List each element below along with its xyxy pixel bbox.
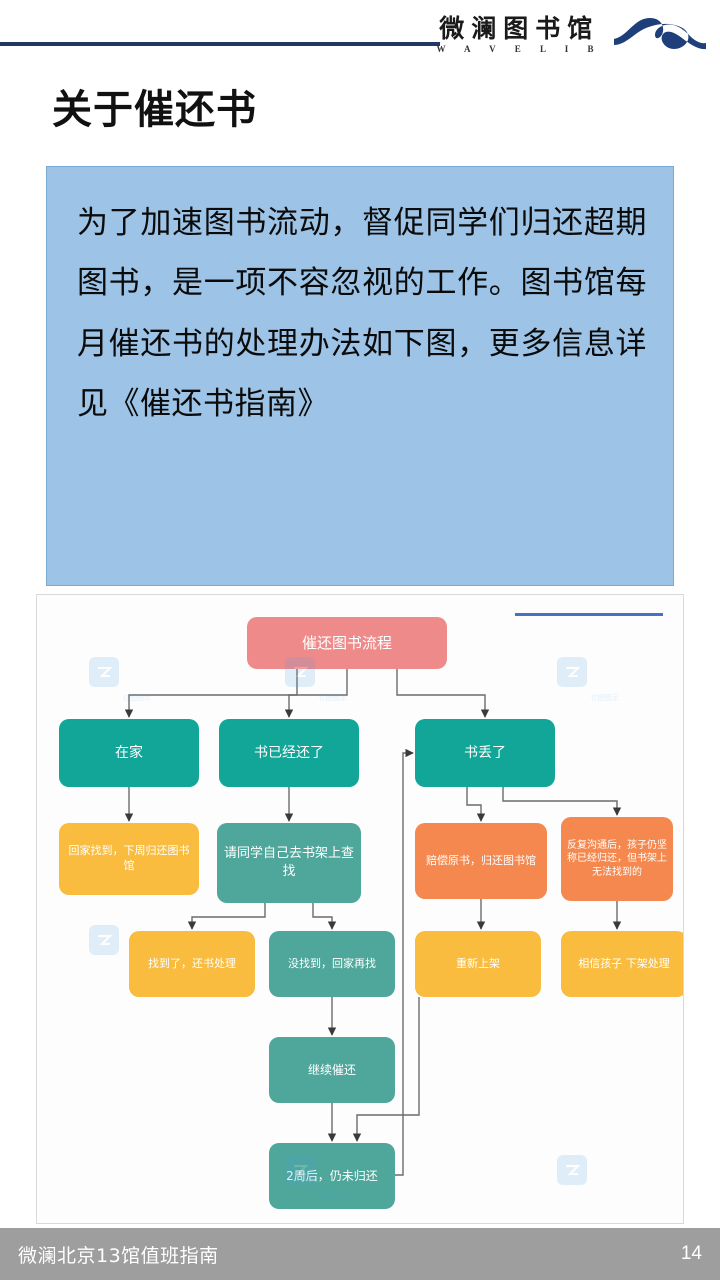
logo-text-block: 微澜图书馆 W A V E L I B <box>436 12 602 54</box>
slide-footer: 微澜北京13馆值班指南 14 <box>0 1228 720 1280</box>
flow-node-label: 2周后，仍未归还 <box>269 1143 395 1209</box>
flow-node-lost[interactable]: 书丢了 <box>415 719 555 787</box>
logo-english-name: W A V E L I B <box>436 44 602 54</box>
flow-node-reshelve[interactable]: 重新上架 <box>415 931 541 997</box>
wave-mark-icon <box>612 6 708 60</box>
flow-node-label: 书丢了 <box>415 719 555 787</box>
flow-node-self-search[interactable]: 请同学自己去书架上查找 <box>217 823 361 903</box>
flow-node-compensate[interactable]: 赔偿原书，归还图书馆 <box>415 823 547 899</box>
logo-chinese-name: 微澜图书馆 <box>439 16 599 41</box>
flowchart-card: 催还图书流程在家书已经还了书丢了回家找到，下周归还图书馆请同学自己去书架上查找赔… <box>36 594 684 1224</box>
flow-node-label: 重新上架 <box>415 931 541 997</box>
footer-title: 微澜北京13馆值班指南 <box>18 1241 219 1268</box>
slide: 微澜图书馆 W A V E L I B 关于催还书 为了加速图书流动，督促同学们… <box>0 0 720 1280</box>
brand-logo: 微澜图书馆 W A V E L I B <box>436 6 708 60</box>
flow-node-label: 回家找到，下周归还图书馆 <box>59 823 199 895</box>
flow-node-root[interactable]: 催还图书流程 <box>247 617 447 669</box>
intro-callout: 为了加速图书流动，督促同学们归还超期图书，是一项不容忽视的工作。图书馆每月催还书… <box>46 166 674 586</box>
flow-node-home-found[interactable]: 回家找到，下周归还图书馆 <box>59 823 199 895</box>
flow-node-at-home[interactable]: 在家 <box>59 719 199 787</box>
flow-node-insist[interactable]: 反复沟通后，孩子仍坚称已经归还，但书架上无法找到的 <box>561 817 673 901</box>
flow-node-found[interactable]: 找到了，还书处理 <box>129 931 255 997</box>
flow-node-label: 相信孩子 下架处理 <box>561 931 684 997</box>
flow-node-not-found[interactable]: 没找到，回家再找 <box>269 931 395 997</box>
flow-node-label: 请同学自己去书架上查找 <box>217 823 361 903</box>
flow-node-label: 催还图书流程 <box>247 617 447 669</box>
footer-page-number: 14 <box>681 1243 702 1265</box>
flow-node-two-weeks[interactable]: 2周后，仍未归还 <box>269 1143 395 1209</box>
page-title: 关于催还书 <box>52 88 257 132</box>
flow-node-label: 没找到，回家再找 <box>269 931 395 997</box>
flow-node-label: 在家 <box>59 719 199 787</box>
flow-node-label: 继续催还 <box>269 1037 395 1103</box>
flow-node-keep-urging[interactable]: 继续催还 <box>269 1037 395 1103</box>
flowchart-diagram: 催还图书流程在家书已经还了书丢了回家找到，下周归还图书馆请同学自己去书架上查找赔… <box>37 595 684 1224</box>
intro-callout-text: 为了加速图书流动，督促同学们归还超期图书，是一项不容忽视的工作。图书馆每月催还书… <box>77 193 647 435</box>
header-rule <box>0 42 440 46</box>
flow-node-label: 书已经还了 <box>219 719 359 787</box>
slide-header: 微澜图书馆 W A V E L I B <box>0 0 720 72</box>
flow-node-label: 反复沟通后，孩子仍坚称已经归还，但书架上无法找到的 <box>561 817 673 901</box>
flow-node-returned[interactable]: 书已经还了 <box>219 719 359 787</box>
flow-node-trust[interactable]: 相信孩子 下架处理 <box>561 931 684 997</box>
flow-node-label: 赔偿原书，归还图书馆 <box>415 823 547 899</box>
flow-node-label: 找到了，还书处理 <box>129 931 255 997</box>
flowchart-nodes: 催还图书流程在家书已经还了书丢了回家找到，下周归还图书馆请同学自己去书架上查找赔… <box>59 617 684 1209</box>
